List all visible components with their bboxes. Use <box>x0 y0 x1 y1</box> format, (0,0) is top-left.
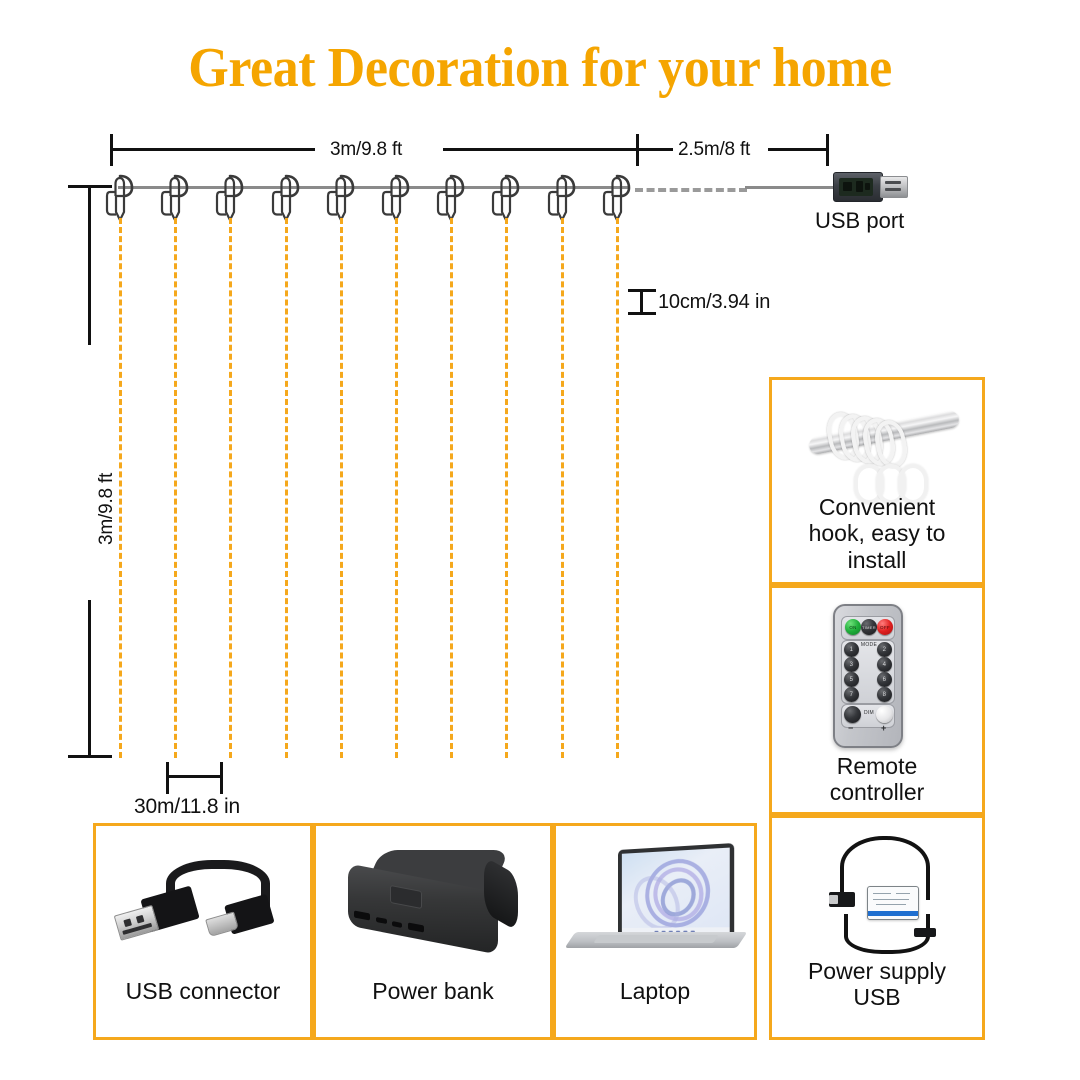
card-caption-remote-controller: Remote controller <box>772 753 982 806</box>
light-strand-5 <box>340 218 343 758</box>
remote-off-label: OFF <box>877 625 893 630</box>
card-caption-usb-connector: USB connector <box>96 978 310 1004</box>
remote-number-label-1: 1 <box>844 647 859 653</box>
usb-plug-chip-2 <box>856 181 863 192</box>
drop-dim-label: 10cm/3.94 in <box>658 291 770 314</box>
usb-a-metal <box>114 905 160 941</box>
light-strand-4 <box>285 218 288 758</box>
usb-port-label: USB port <box>815 208 904 234</box>
remote-minus-label: − <box>848 723 853 733</box>
infographic-page: Great Decoration for your home 3m/9.8 ft… <box>0 0 1080 1080</box>
remote-number-label-4: 4 <box>877 662 892 668</box>
power-bank-icon <box>316 844 550 962</box>
left-dim-label: 3m/9.8 ft <box>96 473 118 545</box>
usb-plug-body <box>833 172 883 202</box>
top-dim-line-left-a <box>110 148 315 151</box>
remote-number-label-5: 5 <box>844 677 859 683</box>
remote-plus-label: + <box>881 723 886 733</box>
spacing-dim-line <box>166 775 223 778</box>
remote-dim-up-button[interactable] <box>876 706 893 723</box>
drop-dim-cap-bottom <box>628 312 656 315</box>
light-strand-7 <box>450 218 453 758</box>
light-strand-8 <box>505 218 508 758</box>
laptop-icon <box>556 846 754 962</box>
remote-number-label-6: 6 <box>877 677 892 683</box>
laptop-screen <box>622 848 730 928</box>
remote-timer-label: TIMER <box>861 625 877 630</box>
card-power-supply-usb[interactable]: Power supply USB <box>769 815 985 1040</box>
card-laptop[interactable]: Laptop <box>553 823 757 1040</box>
spacing-dim-label: 30m/11.8 in <box>134 795 240 819</box>
top-dim-line-left-b <box>443 148 637 151</box>
usb-connector-icon <box>96 842 310 962</box>
left-dim-line-lower <box>88 600 91 758</box>
ps-usb-a-plug <box>829 892 855 907</box>
card-caption-power-bank: Power bank <box>316 978 550 1004</box>
card-usb-connector[interactable]: USB connector <box>93 823 313 1040</box>
usb-plug-chip-3 <box>865 183 870 190</box>
usb-lead-wire <box>745 186 840 189</box>
remote-number-label-8: 8 <box>877 692 892 698</box>
top-dim-tick-right <box>826 134 829 166</box>
card-caption-laptop: Laptop <box>556 978 754 1004</box>
spacing-dim-tick-right <box>220 762 223 794</box>
laptop-lid <box>618 843 734 938</box>
left-dim-line-upper <box>88 185 91 345</box>
card-remote-controller[interactable]: ON TIMER OFF MODE 1 2 3 4 5 6 7 8 <box>769 585 985 815</box>
hooks-on-rod-icon <box>772 394 982 490</box>
light-strand-1 <box>119 218 122 758</box>
spacing-dim-tick-left <box>166 762 169 794</box>
laptop-keyboard <box>593 935 718 943</box>
card-caption-power-supply-usb: Power supply USB <box>772 958 982 1011</box>
left-dim-cap-bottom <box>68 755 112 758</box>
remote-on-label: ON <box>845 625 861 630</box>
top-dim-label-left: 3m/9.8 ft <box>330 139 402 161</box>
light-strand-2 <box>174 218 177 758</box>
light-strand-6 <box>395 218 398 758</box>
remote-number-label-3: 3 <box>844 662 859 668</box>
remote-number-label-2: 2 <box>877 647 892 653</box>
hanger-wire-dashed <box>635 188 747 192</box>
light-strand-10 <box>616 218 619 758</box>
usb-plug-metal-tip <box>880 176 908 198</box>
ps-dc-tip <box>914 928 936 937</box>
top-dim-label-right: 2.5m/8 ft <box>678 139 750 161</box>
card-convenient-hook[interactable]: Convenient hook, easy to install <box>769 377 985 585</box>
power-supply-usb-icon <box>772 830 982 952</box>
usb-a-plug <box>108 879 206 957</box>
power-bank-body <box>338 848 538 960</box>
top-dim-line-right-b <box>768 148 828 151</box>
remote-controller-icon: ON TIMER OFF MODE 1 2 3 4 5 6 7 8 <box>833 604 903 748</box>
light-strand-9 <box>561 218 564 758</box>
remote-number-label-7: 7 <box>844 692 859 698</box>
card-caption-convenient-hook: Convenient hook, easy to install <box>772 494 982 573</box>
top-dim-line-right-a <box>639 148 673 151</box>
page-title: Great Decoration for your home <box>38 36 1042 100</box>
light-strand-3 <box>229 218 232 758</box>
card-power-bank[interactable]: Power bank <box>313 823 553 1040</box>
usb-plug-chip-1 <box>843 182 852 191</box>
